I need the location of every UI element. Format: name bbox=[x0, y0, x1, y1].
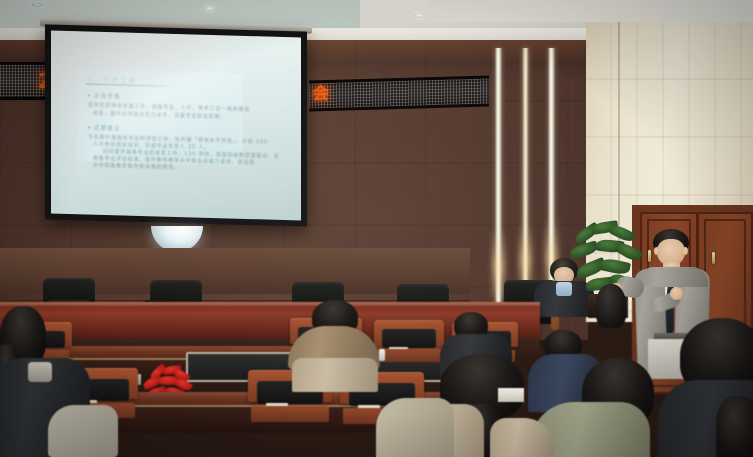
audience-person-near-speaker bbox=[596, 284, 626, 328]
slide-title-rule bbox=[86, 83, 178, 87]
audience-person-fur-hood bbox=[288, 300, 384, 390]
slide-bullet-icon bbox=[88, 127, 90, 129]
led-banner-left: 2 bbox=[0, 62, 50, 100]
audience-person-front-left-shoulder bbox=[376, 398, 454, 457]
speaker-ear bbox=[683, 247, 688, 255]
presentation-slide: 三、下步工作 总体思路 坚持优质特色发展工作，加强专业、人才、学术三位一体的建设… bbox=[77, 69, 243, 166]
speaker-shoulders bbox=[638, 267, 708, 287]
ceiling-bay-right bbox=[430, 0, 753, 22]
speaker-ear bbox=[654, 247, 659, 255]
downlight-icon bbox=[32, 3, 42, 7]
projection-screen: 三、下步工作 总体思路 坚持优质特色发展工作，加强专业、人才、学术三位一体的建设… bbox=[45, 24, 307, 226]
projection-screen-surface: 三、下步工作 总体思路 坚持优质特色发展工作，加强专业、人才、学术三位一体的建设… bbox=[51, 31, 301, 221]
slide-bullet-heading: 总体思路 bbox=[94, 92, 121, 101]
audience-person-far-right bbox=[716, 396, 753, 457]
slide-bullet-icon bbox=[88, 95, 90, 97]
conference-room-photo: 2 会 三、下步工作 总体思路 坚持优质特色发展工作，加强专业、人才、学术三位一… bbox=[0, 0, 753, 457]
water-bottle[interactable] bbox=[379, 349, 385, 361]
speaker-hand-right bbox=[670, 287, 683, 300]
collar bbox=[28, 362, 52, 382]
audience-person-left-sleeve bbox=[48, 405, 118, 457]
slide-body-line: 办学和各教学条件和设施的规范。 bbox=[93, 162, 180, 171]
downlight-icon bbox=[413, 13, 426, 18]
torso-right bbox=[490, 418, 554, 457]
paper-sheet[interactable] bbox=[498, 388, 524, 402]
torso bbox=[292, 358, 378, 392]
led-banner-right-text: 会 bbox=[312, 86, 329, 103]
led-banner-right: 会 bbox=[309, 75, 489, 111]
downlight-icon bbox=[203, 6, 216, 11]
slide-bullet-heading: 近期建议 bbox=[94, 124, 121, 133]
